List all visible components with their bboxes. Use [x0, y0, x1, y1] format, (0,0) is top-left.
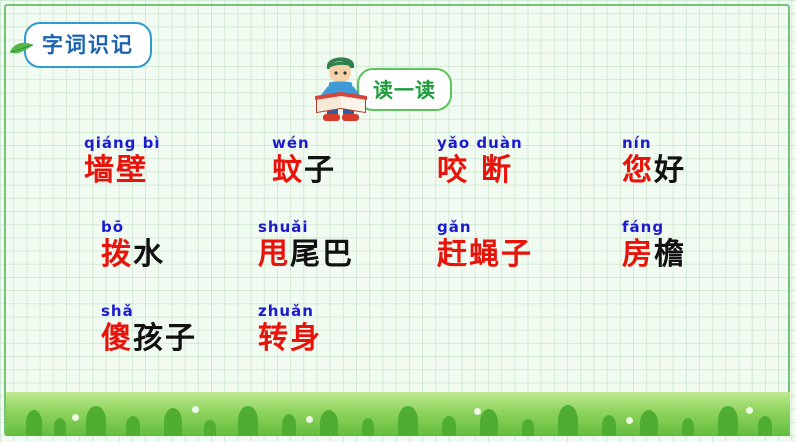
hanzi-char: 水 — [133, 237, 165, 272]
word-item: fáng 房檐 — [622, 218, 686, 273]
pinyin-text: qiáng bì — [84, 134, 161, 152]
hanzi-char: 好 — [654, 153, 686, 188]
pinyin-text: wén — [272, 134, 336, 152]
hanzi-char: 蝇 — [469, 237, 501, 272]
hanzi-char: 壁 — [116, 153, 148, 188]
hanzi-char: 咬 — [437, 153, 469, 188]
boy-reading-icon — [307, 50, 377, 126]
hanzi-char: 转 — [258, 321, 290, 356]
word-item: shǎ 傻孩子 — [101, 302, 197, 357]
hanzi-char: 子 — [165, 321, 197, 356]
hanzi-char: 断 — [481, 153, 513, 188]
pinyin-text: bō — [101, 218, 165, 236]
word-item: nín 您好 — [622, 134, 686, 189]
hanzi-text: 您好 — [622, 153, 686, 189]
word-item: zhuǎn 转身 — [258, 302, 322, 357]
word-item: bō 拨水 — [101, 218, 165, 273]
word-item: wén 蚊子 — [272, 134, 336, 189]
word-item: gǎn 赶蝇子 — [437, 218, 533, 273]
hanzi-text: 拨水 — [101, 237, 165, 273]
hanzi-char: 您 — [622, 153, 654, 188]
hanzi-text: 房檐 — [622, 237, 686, 273]
hanzi-char: 檐 — [654, 237, 686, 272]
slide-canvas: 字词识记 读一读 qiáng bì — [0, 0, 796, 442]
hanzi-char: 孩 — [133, 321, 165, 356]
hanzi-char: 房 — [622, 237, 654, 272]
word-item: yǎo duàn 咬断 — [437, 134, 523, 189]
hanzi-text: 墙壁 — [84, 153, 161, 189]
pinyin-text: fáng — [622, 218, 686, 236]
hanzi-char: 尾 — [290, 237, 322, 272]
hanzi-char: 傻 — [101, 321, 133, 356]
pinyin-text: nín — [622, 134, 686, 152]
hanzi-char: 蚊 — [272, 153, 304, 188]
leaf-icon — [8, 40, 34, 58]
word-item: shuǎi 甩尾巴 — [258, 218, 354, 273]
hanzi-text: 甩尾巴 — [258, 237, 354, 273]
hanzi-char: 身 — [290, 321, 322, 356]
hanzi-char: 墙 — [84, 153, 116, 188]
grass-decoration — [6, 392, 790, 436]
hanzi-char: 甩 — [258, 237, 290, 272]
hanzi-text: 傻孩子 — [101, 321, 197, 357]
hanzi-text: 赶蝇子 — [437, 237, 533, 273]
hanzi-text: 咬断 — [437, 153, 523, 189]
pinyin-text: gǎn — [437, 218, 533, 236]
hanzi-text: 蚊子 — [272, 153, 336, 189]
hanzi-text: 转身 — [258, 321, 322, 357]
hanzi-char: 赶 — [437, 237, 469, 272]
hanzi-char: 子 — [501, 237, 533, 272]
pinyin-text: shǎ — [101, 302, 197, 320]
pinyin-text: shuǎi — [258, 218, 354, 236]
hanzi-char: 拨 — [101, 237, 133, 272]
page-title: 字词识记 — [24, 22, 152, 68]
hanzi-char: 子 — [304, 153, 336, 188]
word-item: qiáng bì 墙壁 — [84, 134, 161, 189]
pinyin-text: zhuǎn — [258, 302, 322, 320]
hanzi-char: 巴 — [322, 237, 354, 272]
pinyin-text: yǎo duàn — [437, 134, 523, 152]
